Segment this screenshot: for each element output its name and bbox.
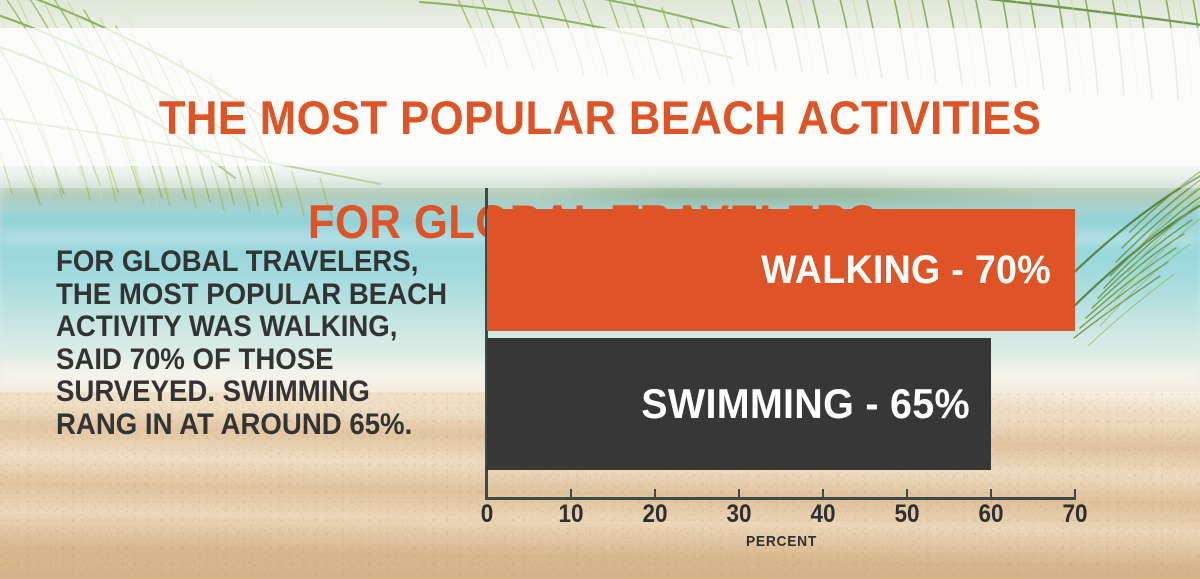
chart-x-tick-30: [738, 489, 740, 498]
chart-x-tick-40: [822, 489, 824, 498]
chart-x-tick-60: [990, 489, 992, 498]
bar-label-walking: WALKING - 70%: [761, 248, 1075, 292]
chart-x-tick-label-10: 10: [544, 500, 598, 528]
chart-x-tick-0: [486, 489, 488, 498]
chart-x-tick-label-70: 70: [1048, 500, 1102, 528]
bar-label-swimming: SWIMMING - 65%: [642, 382, 991, 426]
chart-x-tick-50: [906, 489, 908, 498]
bar-swimming: SWIMMING - 65%: [487, 338, 991, 470]
bar-chart: 010203040506070 WALKING - 70% SWIMMING -…: [0, 0, 1200, 579]
chart-x-tick-20: [654, 489, 656, 498]
chart-x-tick-10: [570, 489, 572, 498]
chart-x-axis-title: PERCENT: [511, 533, 1053, 550]
chart-x-tick-label-20: 20: [628, 500, 682, 528]
chart-x-tick-label-40: 40: [796, 500, 850, 528]
chart-x-tick-70: [1074, 489, 1076, 498]
infographic-canvas: THE MOST POPULAR BEACH ACTIVITIES FOR GL…: [0, 0, 1200, 579]
chart-x-tick-label-50: 50: [880, 500, 934, 528]
chart-x-tick-label-30: 30: [712, 500, 766, 528]
bar-walking: WALKING - 70%: [487, 209, 1075, 331]
chart-x-tick-label-0: 0: [460, 500, 514, 528]
chart-x-tick-label-60: 60: [964, 500, 1018, 528]
